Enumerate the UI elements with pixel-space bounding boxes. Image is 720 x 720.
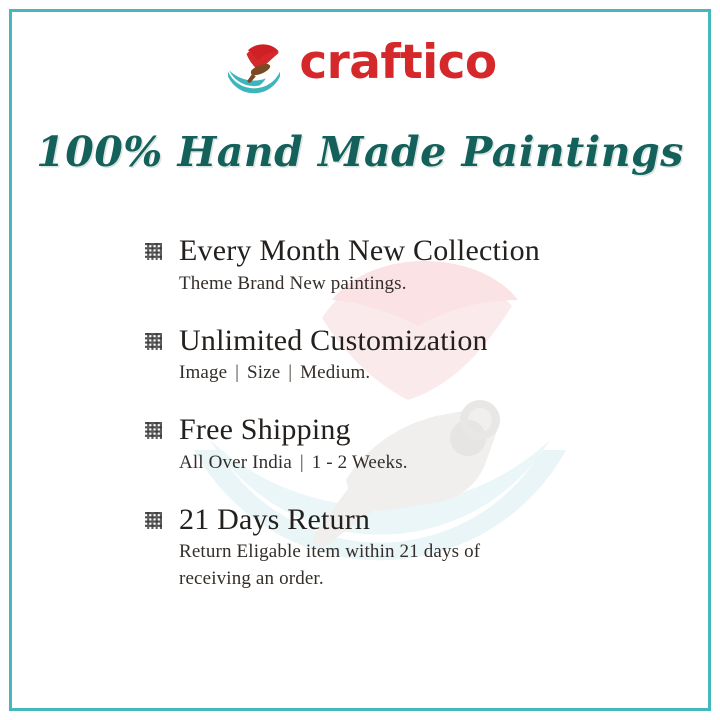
feature-subtitle: Image | Size | Medium. bbox=[179, 360, 665, 387]
craftico-brush-c-logo-icon bbox=[223, 33, 285, 95]
woven-weave-square-bullet-icon bbox=[145, 422, 162, 439]
brand-header: craftico bbox=[0, 33, 720, 95]
feature-subtitle: All Over India | 1 - 2 Weeks. bbox=[179, 450, 665, 477]
page-title: 100% Hand Made Paintings bbox=[0, 128, 720, 176]
list-item: Every Month New Collection Theme Brand N… bbox=[145, 234, 665, 298]
list-item-body: Unlimited Customization Image | Size | M… bbox=[179, 324, 665, 388]
feature-title: Unlimited Customization bbox=[179, 324, 665, 358]
feature-subtitle: Return Eligable item within 21 days of r… bbox=[179, 539, 539, 593]
feature-subtitle-part: 1 - 2 Weeks. bbox=[312, 452, 408, 473]
feature-subtitle-part: Medium. bbox=[300, 362, 370, 383]
content-layer: craftico 100% Hand Made Paintings bbox=[0, 0, 720, 720]
list-item-body: Every Month New Collection Theme Brand N… bbox=[179, 234, 665, 298]
list-item: Unlimited Customization Image | Size | M… bbox=[145, 324, 665, 388]
brand-wordmark: craftico bbox=[299, 39, 496, 90]
feature-subtitle-part: Image bbox=[179, 362, 227, 383]
feature-list: Every Month New Collection Theme Brand N… bbox=[145, 234, 665, 593]
infographic-canvas: craftico 100% Hand Made Paintings bbox=[0, 0, 720, 720]
woven-weave-square-bullet-icon bbox=[145, 512, 162, 529]
list-item: 21 Days Return Return Eligable item with… bbox=[145, 503, 665, 594]
list-item: Free Shipping All Over India | 1 - 2 Wee… bbox=[145, 413, 665, 477]
feature-subtitle-part: Size bbox=[247, 362, 280, 383]
woven-weave-square-bullet-icon bbox=[145, 243, 162, 260]
feature-subtitle-part: All Over India bbox=[179, 452, 292, 473]
feature-subtitle-part: Theme Brand New paintings. bbox=[179, 273, 407, 294]
woven-weave-square-bullet-icon bbox=[145, 333, 162, 350]
feature-title: Every Month New Collection bbox=[179, 234, 665, 268]
list-item-body: 21 Days Return Return Eligable item with… bbox=[179, 503, 665, 594]
feature-subtitle: Theme Brand New paintings. bbox=[179, 271, 665, 298]
feature-title: 21 Days Return bbox=[179, 503, 665, 537]
feature-subtitle-part: Return Eligable item within 21 days of r… bbox=[179, 541, 480, 589]
separator: | bbox=[232, 360, 242, 387]
feature-title: Free Shipping bbox=[179, 413, 665, 447]
list-item-body: Free Shipping All Over India | 1 - 2 Wee… bbox=[179, 413, 665, 477]
separator: | bbox=[285, 360, 295, 387]
separator: | bbox=[297, 450, 307, 477]
